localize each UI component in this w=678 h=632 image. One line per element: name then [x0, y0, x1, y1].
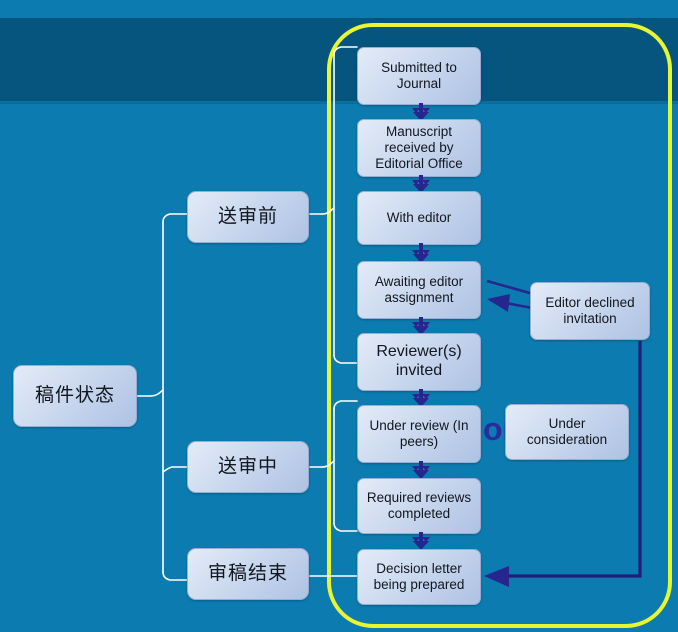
flow-node-under-review-label: Under review (In peers) [362, 418, 476, 450]
stage-node-review-finished[interactable]: 审稿结束 [187, 548, 309, 600]
background-top-strip [0, 0, 678, 18]
side-node-under-consideration-label: Under consideration [510, 416, 624, 448]
flow-node-required-reviews[interactable]: Required reviews completed [357, 478, 481, 534]
arrow-under-review-to-required [413, 461, 429, 479]
stage-node-review-finished-label: 审稿结束 [208, 563, 288, 585]
flow-node-under-review[interactable]: Under review (In peers) [357, 405, 481, 463]
flow-node-awaiting-assignment-label: Awaiting editor assignment [362, 274, 476, 306]
flow-node-with-editor-label: With editor [387, 210, 452, 226]
arrow-with-editor-to-awaiting [413, 243, 429, 263]
flow-node-awaiting-assignment[interactable]: Awaiting editor assignment [357, 261, 481, 319]
side-node-editor-declined-label: Editor declined invitation [535, 295, 645, 327]
flow-node-with-editor[interactable]: With editor [357, 191, 481, 245]
flow-node-submitted-label: Submitted to Journal [362, 60, 476, 92]
root-node-manuscript-status[interactable]: 稿件状态 [13, 365, 137, 427]
stage-node-pre-review[interactable]: 送审前 [187, 191, 309, 243]
flow-node-reviewers-invited-label: Reviewer(s) invited [362, 343, 476, 381]
flow-node-decision-letter[interactable]: Decision letter being prepared [357, 549, 481, 605]
flow-node-reviewers-invited[interactable]: Reviewer(s) invited [357, 333, 481, 391]
root-node-label: 稿件状态 [35, 385, 115, 407]
background-dark-band [0, 18, 678, 104]
arrow-required-to-decision [413, 532, 429, 550]
arrowhead-to-awaiting [487, 294, 510, 312]
flow-node-received-label: Manuscript received by Editorial Office [362, 124, 476, 172]
stage-node-in-review[interactable]: 送审中 [187, 441, 309, 493]
side-node-editor-declined[interactable]: Editor declined invitation [530, 282, 650, 340]
flowchart-canvas: 稿件状态 送审前 送审中 审稿结束 Submitted to Journal M… [0, 0, 678, 632]
flow-node-submitted[interactable]: Submitted to Journal [357, 47, 481, 105]
flow-node-received[interactable]: Manuscript received by Editorial Office [357, 119, 481, 177]
stage-node-in-review-label: 送审中 [218, 456, 278, 478]
arrowhead-to-decision-letter [484, 566, 509, 587]
flow-node-decision-letter-label: Decision letter being prepared [362, 561, 476, 593]
stage-node-pre-review-label: 送审前 [218, 206, 278, 228]
flow-node-required-reviews-label: Required reviews completed [362, 490, 476, 522]
side-node-under-consideration[interactable]: Under consideration [505, 404, 629, 460]
